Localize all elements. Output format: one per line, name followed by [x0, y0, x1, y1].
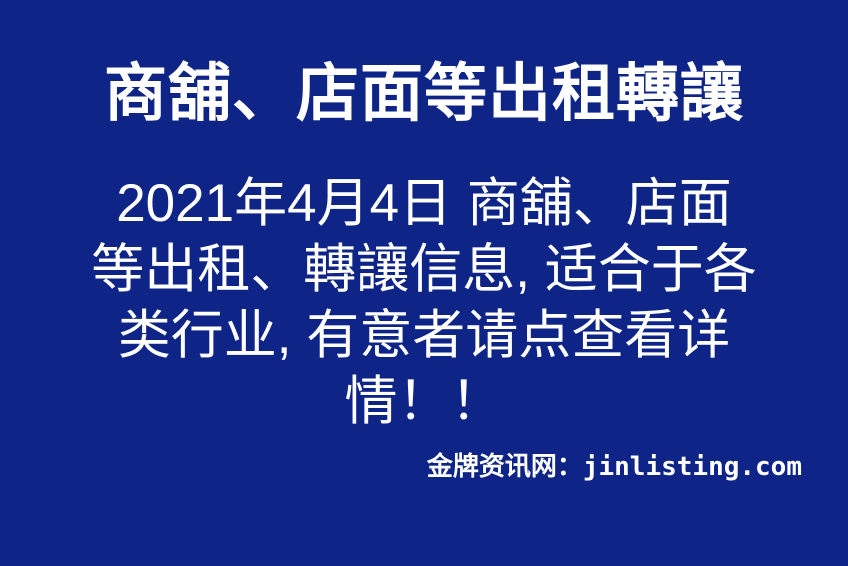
- body-text: 2021年4月4日 商舖、店面 等出租、轉讓信息, 适合于各 类行业, 有意者请…: [0, 171, 848, 435]
- footer-website-url: jinlisting.com: [583, 452, 802, 482]
- body-line-4: 情！！: [0, 369, 848, 435]
- footer-brand-label: 金牌资讯网：: [427, 451, 583, 481]
- body-line-2: 等出租、轉讓信息, 适合于各: [0, 237, 848, 303]
- footer-watermark: 金牌资讯网：jinlisting.com: [0, 450, 848, 483]
- page-title: 商舖、店面等出租轉讓: [0, 56, 848, 132]
- body-line-3: 类行业, 有意者请点查看详: [0, 303, 848, 369]
- body-line-1: 2021年4月4日 商舖、店面: [0, 171, 848, 237]
- promo-poster: 商舖、店面等出租轉讓 2021年4月4日 商舖、店面 等出租、轉讓信息, 适合于…: [0, 0, 848, 566]
